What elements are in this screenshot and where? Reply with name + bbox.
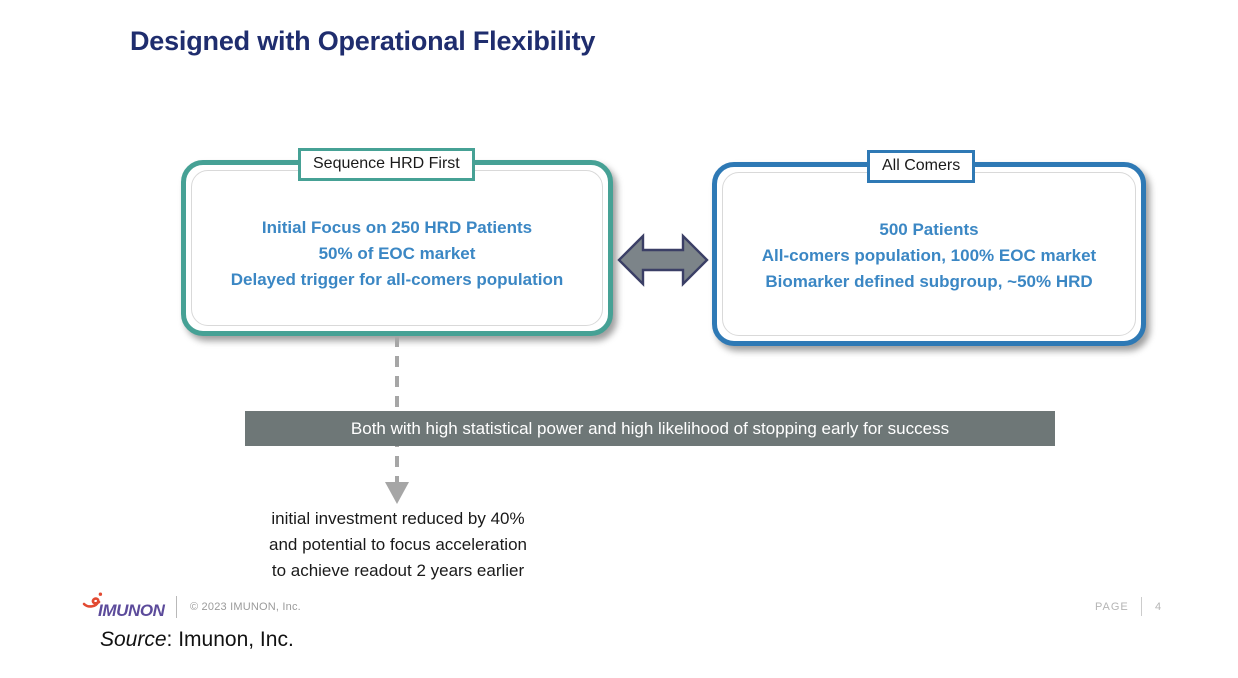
box-label-sequence-hrd-first: Sequence HRD First	[298, 148, 475, 181]
outcome-text-block: initial investment reduced by 40% and po…	[218, 506, 578, 584]
page-title: Designed with Operational Flexibility	[130, 26, 595, 57]
box-left-line-3: Delayed trigger for all-comers populatio…	[186, 267, 608, 293]
page-divider	[1141, 597, 1142, 616]
source-label: Source	[100, 628, 167, 651]
outcome-line-3: to achieve readout 2 years earlier	[218, 558, 578, 584]
box-right-line-3: Biomarker defined subgroup, ~50% HRD	[717, 269, 1141, 295]
imunon-swoosh-icon	[82, 591, 106, 611]
footer-divider	[176, 596, 177, 618]
double-headed-arrow-icon	[617, 232, 709, 288]
summary-banner-text: Both with high statistical power and hig…	[351, 419, 949, 439]
box-left-line-1: Initial Focus on 250 HRD Patients	[186, 215, 608, 241]
outcome-line-2: and potential to focus acceleration	[218, 532, 578, 558]
page-number: 4	[1155, 601, 1161, 613]
page-label: PAGE	[1095, 601, 1129, 613]
imunon-wordmark: IMUNON	[98, 601, 165, 621]
flow-box-all-comers: 500 Patients All-comers population, 100%…	[712, 162, 1146, 346]
box-right-line-2: All-comers population, 100% EOC market	[717, 243, 1141, 269]
imunon-logo: IMUNON	[84, 595, 165, 621]
flow-box-sequence-hrd-first: Initial Focus on 250 HRD Patients 50% of…	[181, 160, 613, 336]
slide-canvas: Designed with Operational Flexibility In…	[0, 0, 1238, 678]
box-left-line-2: 50% of EOC market	[186, 241, 608, 267]
summary-banner: Both with high statistical power and hig…	[245, 411, 1055, 446]
outcome-line-1: initial investment reduced by 40%	[218, 506, 578, 532]
source-value: : Imunon, Inc.	[167, 628, 294, 651]
box-right-line-1: 500 Patients	[717, 217, 1141, 243]
copyright-text: © 2023 IMUNON, Inc.	[190, 601, 301, 613]
source-caption: Source: Imunon, Inc.	[100, 628, 294, 652]
flow-box-body-right: 500 Patients All-comers population, 100%…	[717, 217, 1141, 295]
flow-box-body-left: Initial Focus on 250 HRD Patients 50% of…	[186, 215, 608, 293]
box-label-all-comers: All Comers	[867, 150, 975, 183]
